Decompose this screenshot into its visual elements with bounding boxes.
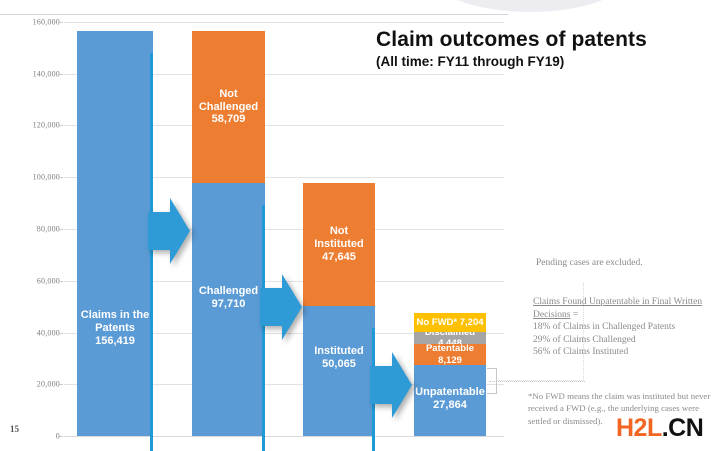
page-subtitle: (All time: FY11 through FY19) xyxy=(376,54,712,70)
slide-canvas: 160,000 140,000 120,000 100,000 80,000 6… xyxy=(0,0,720,451)
bar-segment-instituted[interactable]: Instituted 50,065 xyxy=(303,306,375,436)
bar-segment-value: 58,709 xyxy=(212,113,246,126)
bar-instituted-stack[interactable]: Not Instituted 47,645 Instituted 50,065 xyxy=(303,183,375,436)
flow-arrow-1 xyxy=(148,198,190,264)
bar-segment-label: Unpatentable xyxy=(415,386,485,399)
y-tick-mark xyxy=(58,125,63,126)
y-tick-mark xyxy=(58,177,63,178)
decorative-top-rule xyxy=(0,14,508,15)
bar-segment-value: 27,864 xyxy=(433,399,467,412)
y-tick-mark xyxy=(58,281,63,282)
bar-segment-label-value: Patentable 8,129 xyxy=(414,344,486,365)
bar-segment-label: Instituted xyxy=(314,345,364,358)
decorative-arc xyxy=(430,0,630,12)
bar-segment-patentable[interactable]: Patentable 8,129 xyxy=(414,344,486,365)
bar-segment-label-value: No FWD* 7,204 xyxy=(416,317,483,328)
bar-segment-claims-in-patents[interactable]: Claims in the Patents 156,419 xyxy=(77,31,153,436)
bar-challenged-stack[interactable]: Not Challenged 58,709 Challenged 97,710 xyxy=(192,31,265,436)
bar-segment-label: Challenged xyxy=(199,285,258,298)
y-tick-mark xyxy=(58,436,63,437)
watermark: H2L.CN xyxy=(616,414,703,443)
bar-segment-label: Claims in the xyxy=(81,309,149,322)
bar-segment-label-line2: Instituted xyxy=(314,238,364,251)
y-tick-label: 20,000 xyxy=(4,380,60,389)
plot-area: Claims in the Patents 156,419 Not Challe… xyxy=(64,22,504,436)
y-tick-label: 80,000 xyxy=(4,225,60,234)
bar-segment-challenged[interactable]: Challenged 97,710 xyxy=(192,183,265,436)
y-tick-mark xyxy=(58,229,63,230)
flow-arrow-2 xyxy=(260,274,302,340)
bar-segment-label-value: Disclaimed 4,448 xyxy=(414,332,486,344)
y-tick-label: 40,000 xyxy=(4,329,60,338)
slide-number: 15 xyxy=(10,424,19,434)
bar-segment-value: 97,710 xyxy=(212,298,246,311)
bar-segment-label-line2: Patents xyxy=(95,322,135,335)
bar-segment-unpatentable[interactable]: Unpatentable 27,864 xyxy=(414,365,486,436)
bar-segment-not-instituted[interactable]: Not Instituted 47,645 xyxy=(303,183,375,306)
y-tick-label: 100,000 xyxy=(4,173,60,182)
note-pending-cases: Pending cases are excluded. xyxy=(536,258,716,268)
bar-outcomes-stack[interactable]: No FWD* 7,204 Disclaimed 4,448 Patentabl… xyxy=(414,313,486,436)
bar-segment-label: Not xyxy=(219,88,237,101)
flow-arrow-3 xyxy=(370,352,412,418)
x-axis-baseline xyxy=(64,436,504,437)
bar-segment-label: Not xyxy=(330,225,348,238)
gridline xyxy=(64,22,504,23)
bar-segment-value: 47,645 xyxy=(322,251,356,264)
y-tick-label: 60,000 xyxy=(4,277,60,286)
page-title: Claim outcomes of patents xyxy=(376,28,712,52)
y-tick-mark xyxy=(58,22,63,23)
callout-connector-line xyxy=(489,381,585,383)
y-tick-mark xyxy=(58,384,63,385)
y-tick-mark xyxy=(58,333,63,334)
bar-segment-not-challenged[interactable]: Not Challenged 58,709 xyxy=(192,31,265,183)
y-tick-label: 120,000 xyxy=(4,121,60,130)
bar-segment-label-line2: Challenged xyxy=(199,101,258,114)
watermark-part-1: H2L xyxy=(616,414,662,442)
bar-segment-disclaimed[interactable]: Disclaimed 4,448 xyxy=(414,332,486,344)
callout-box-outline xyxy=(496,283,584,381)
y-tick-label: 140,000 xyxy=(4,70,60,79)
bar-segment-value: 50,065 xyxy=(322,358,356,371)
bar-claims-in-patents[interactable]: Claims in the Patents 156,419 xyxy=(77,31,153,436)
bar-segment-no-fwd[interactable]: No FWD* 7,204 xyxy=(414,313,486,332)
bar-segment-value: 156,419 xyxy=(95,335,135,348)
y-tick-mark xyxy=(58,74,63,75)
watermark-part-2: .CN xyxy=(662,414,704,442)
y-tick-label: 160,000 xyxy=(4,18,60,27)
